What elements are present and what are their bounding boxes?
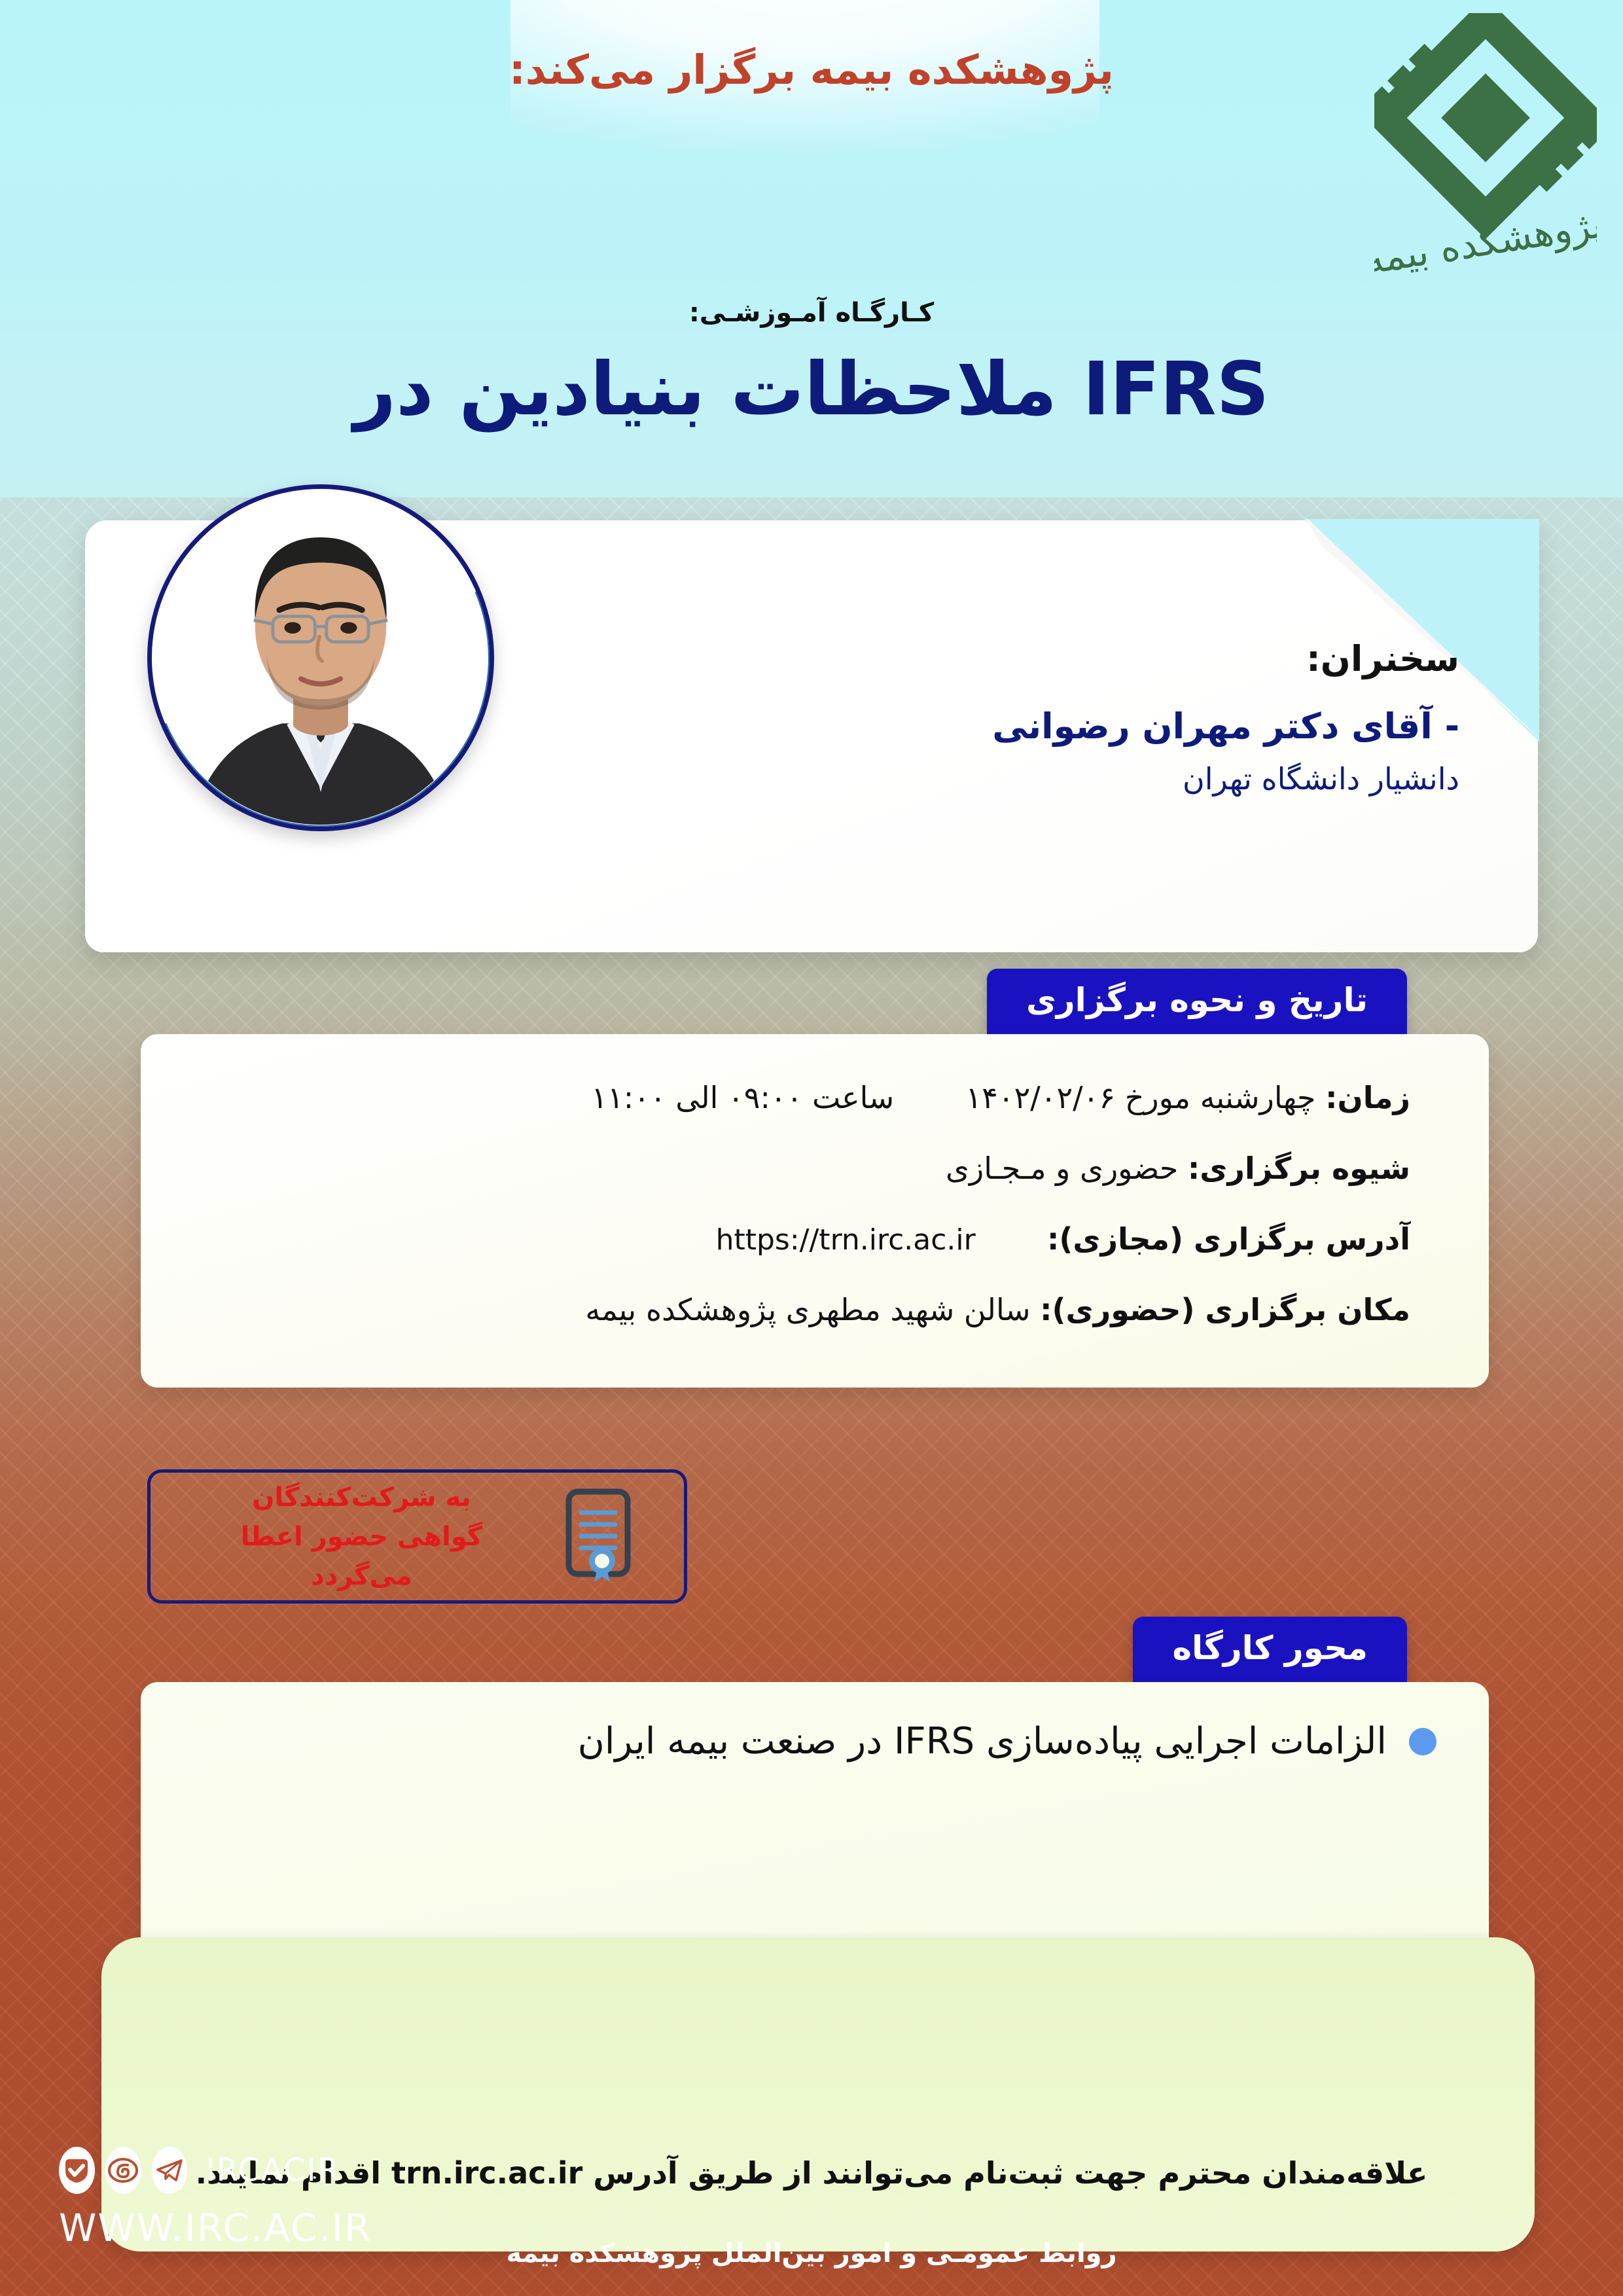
- certificate-line1: به شرکت‌کنندگان: [252, 1482, 471, 1513]
- eitaa-icon[interactable]: [105, 2147, 141, 2194]
- registration-url[interactable]: trn.irc.ac.ir: [391, 2155, 582, 2191]
- speaker-label: سخنران:: [992, 638, 1459, 679]
- telegram-icon[interactable]: [152, 2147, 188, 2194]
- info-val-venue: سالن شهید مطهری پژوهشکده بیمه: [585, 1292, 1030, 1327]
- certificate-notice: به شرکت‌کنندگان گواهی حضور اعطا می‌گردد: [147, 1469, 687, 1604]
- info-row-mode: شیوه برگزاری: حضوری و مـجـازی: [180, 1151, 1410, 1186]
- topic-item-text: الزامات اجرایی پیاده‌سازی IFRS در صنعت ب…: [578, 1720, 1387, 1763]
- info-key-mode: شیوه برگزاری:: [1188, 1151, 1410, 1186]
- date-info-panel: زمان: چهارشنبه مورخ ۱۴۰۲/۰۲/۰۶ ساعت ۰۹:۰…: [141, 1034, 1489, 1388]
- speaker-info: سخنران: - آقای دکتر مهران رضوانی دانشیار…: [992, 638, 1459, 797]
- info-val-hours: ساعت ۰۹:۰۰ الی ۱۱:۰۰: [591, 1080, 894, 1115]
- info-key-venue: مکان برگزاری (حضوری):: [1040, 1292, 1410, 1327]
- speaker-affiliation: دانشیار دانشگاه تهران: [992, 761, 1459, 797]
- workshop-title-fa: ملاحظات بنیادین در: [354, 347, 1058, 432]
- bullet-icon: [1409, 1728, 1436, 1755]
- registration-text: علاقه‌مندان محترم جهت ثبت‌نام می‌توانند …: [196, 2155, 1428, 2191]
- speaker-avatar: [147, 484, 494, 831]
- avatar-accent-arc: [147, 484, 494, 831]
- workshop-title-latin: IFRS: [1082, 347, 1269, 432]
- info-key-time: زمان:: [1325, 1080, 1410, 1115]
- info-val-date: چهارشنبه مورخ ۱۴۰۲/۰۲/۰۶: [965, 1080, 1315, 1115]
- tab-date-section: تاریخ و نحوه برگزاری: [987, 969, 1407, 1035]
- info-row-venue: مکان برگزاری (حضوری): سالن شهید مطهری پژ…: [180, 1292, 1410, 1327]
- social-icons-row: IRCACIR: [59, 2147, 340, 2194]
- certificate-line2: گواهی حضور اعطا می‌گردد: [241, 1522, 482, 1591]
- info-val-online-url[interactable]: https://trn.irc.ac.ir: [716, 1223, 976, 1257]
- topic-list-item: الزامات اجرایی پیاده‌سازی IFRS در صنعت ب…: [193, 1720, 1436, 1763]
- bale-icon[interactable]: [59, 2147, 95, 2194]
- tab-topic-section: محور کارگاه: [1133, 1617, 1407, 1683]
- workshop-title: IFRS ملاحظات بنیادین در: [0, 347, 1623, 432]
- host-line: پژوهشکده بیمه برگزار می‌کند:: [0, 46, 1623, 94]
- info-row-time: زمان: چهارشنبه مورخ ۱۴۰۲/۰۲/۰۶ ساعت ۰۹:۰…: [180, 1080, 1410, 1115]
- header-glow: [510, 0, 1099, 196]
- certificate-text: به شرکت‌کنندگان گواهی حضور اعطا می‌گردد: [190, 1478, 533, 1596]
- poster-root: پژوهشکده بیمه پژوهشکده بیمه برگزار می‌کن…: [0, 0, 1623, 2296]
- info-val-mode: حضوری و مـجـازی: [946, 1151, 1178, 1186]
- info-key-online: آدرس برگزاری (مجازی):: [1047, 1221, 1410, 1257]
- certificate-icon: [560, 1488, 645, 1586]
- website-label: WWW.IRC.AC.IR: [59, 2206, 340, 2250]
- social-handle: IRCACIR: [205, 2152, 340, 2189]
- speaker-name: - آقای دکتر مهران رضوانی: [992, 706, 1459, 747]
- speaker-card: سخنران: - آقای دکتر مهران رضوانی دانشیار…: [85, 520, 1538, 952]
- social-block: IRCACIR WWW.IRC.AC.IR: [59, 2147, 340, 2250]
- workshop-label: کـارگـاه آمـوزشـی:: [0, 298, 1623, 328]
- registration-pre: علاقه‌مندان محترم جهت ثبت‌نام می‌توانند …: [582, 2155, 1427, 2191]
- info-row-online-address: آدرس برگزاری (مجازی): https://trn.irc.ac…: [180, 1221, 1410, 1257]
